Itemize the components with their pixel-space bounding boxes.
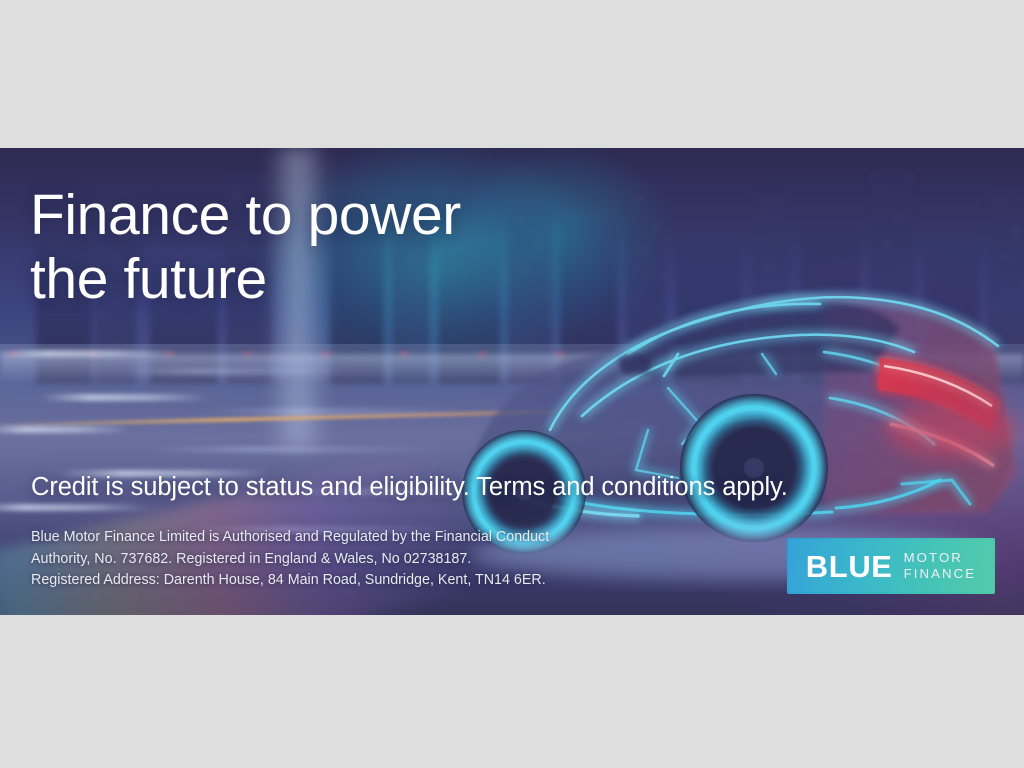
blue-motor-finance-logo[interactable]: BLUE MOTOR FINANCE [787,538,995,594]
logo-primary-text: BLUE [806,551,893,582]
logo-secondary-text: MOTOR FINANCE [904,550,977,582]
legal-disclaimer: Blue Motor Finance Limited is Authorised… [31,527,731,592]
logo-secondary-line-2: FINANCE [904,566,977,582]
logo-secondary-line-1: MOTOR [904,550,977,566]
advertisement-banner[interactable]: Finance to power the future Credit is su… [0,148,1024,615]
banner-tagline: Credit is subject to status and eligibil… [31,473,788,502]
banner-headline: Finance to power the future [30,184,590,312]
